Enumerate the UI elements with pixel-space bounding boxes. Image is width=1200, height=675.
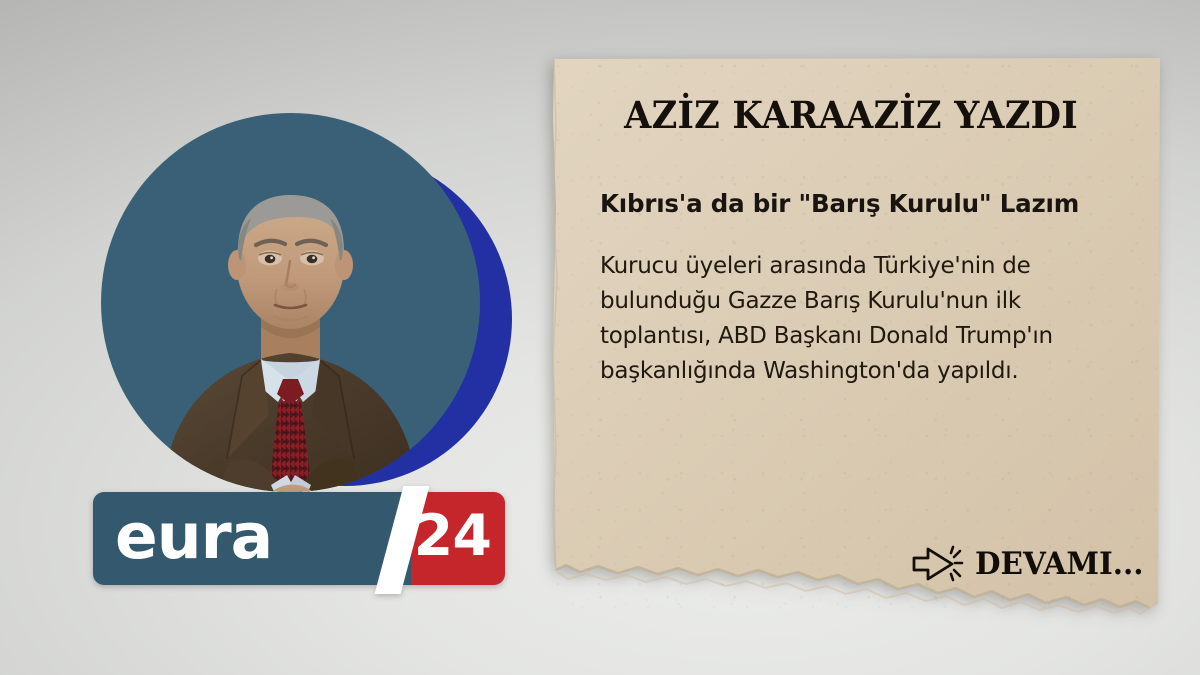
arrow-cursor-icon — [912, 544, 964, 584]
column-kicker: AZİZ KARAAZİZ YAZDI — [592, 96, 1111, 135]
read-more-label: DEVAMI... — [975, 549, 1144, 580]
logo-blue-block: eura — [93, 492, 411, 585]
article-summary: Kurucu üyeleri arasında Türkiye'nin de b… — [600, 249, 1094, 389]
portrait-composition: eura 24 — [0, 0, 545, 675]
article-headline: Kıbrıs'a da bir "Barış Kurulu" Lazım — [600, 189, 1124, 220]
eura24-logo[interactable]: eura 24 — [93, 492, 505, 585]
read-more-cta[interactable]: DEVAMI... — [912, 544, 1152, 584]
logo-number: 24 — [414, 508, 491, 565]
columnist-portrait — [101, 113, 480, 523]
logo-red-block: 24 — [411, 492, 505, 585]
logo-wordmark: eura — [115, 505, 272, 568]
torn-paper-card: AZİZ KARAAZİZ YAZDI Kıbrıs'a da bir "Bar… — [540, 48, 1172, 648]
promo-graphic: eura 24 — [0, 0, 1200, 675]
